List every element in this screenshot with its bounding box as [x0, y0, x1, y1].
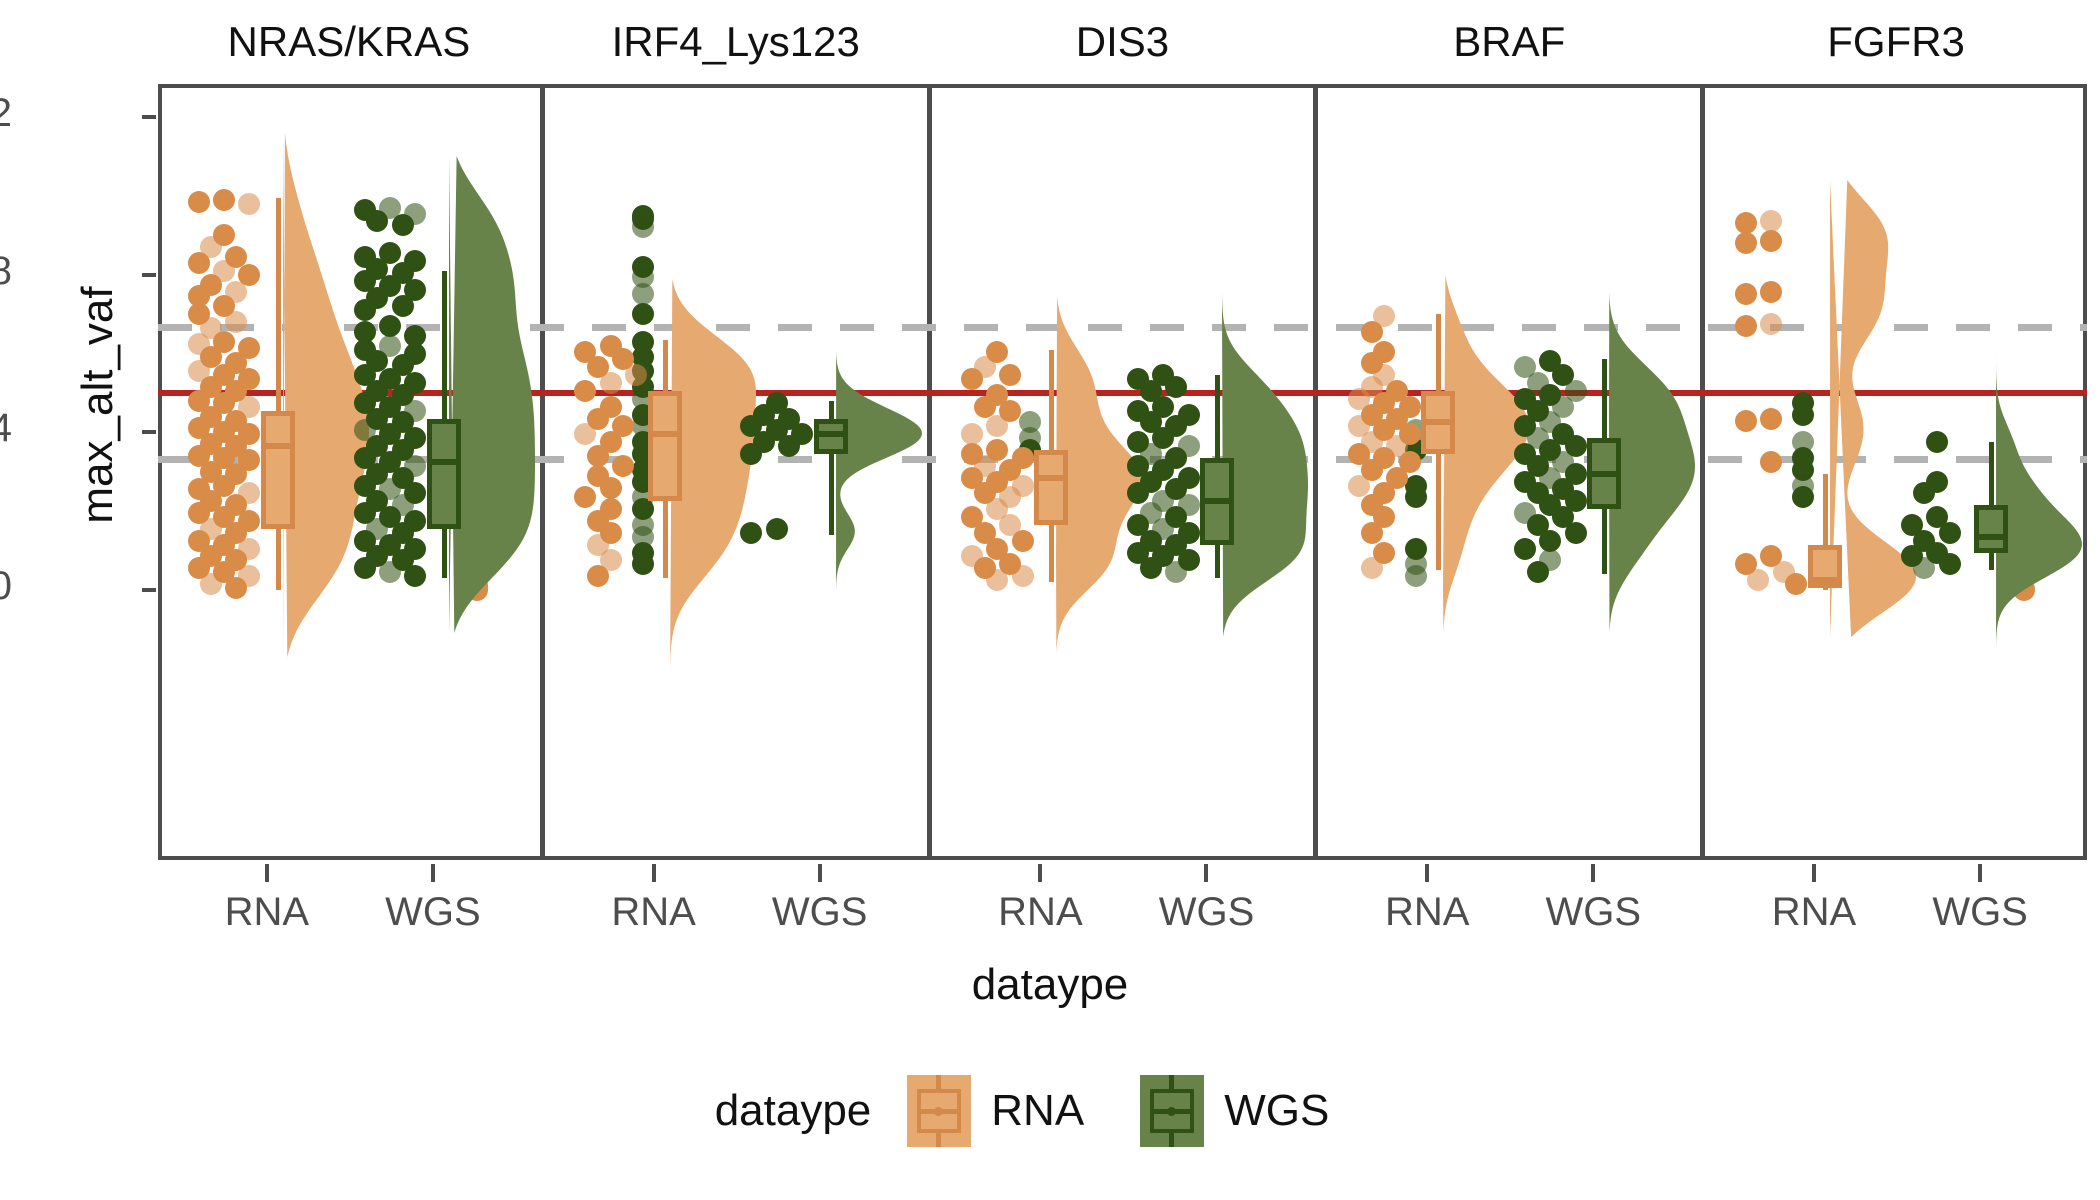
- y-tick-mark: [142, 115, 156, 119]
- whisker-RNA: [276, 198, 281, 590]
- median-WGS: [1587, 471, 1621, 477]
- violin-WGS: [836, 350, 924, 590]
- x-tick-mark: [1425, 864, 1429, 882]
- box-RNA: [648, 391, 682, 501]
- data-point: [392, 295, 414, 317]
- legend-title: dataype: [715, 1086, 872, 1136]
- y-tick-mark: [142, 588, 156, 592]
- data-point: [1514, 538, 1536, 560]
- panel-title-2: DIS3: [932, 18, 1314, 68]
- median-WGS: [1974, 534, 2008, 540]
- y-axis-title: max_alt_vaf: [73, 255, 123, 555]
- x-tick-mark: [652, 864, 656, 882]
- median-RNA: [1808, 577, 1842, 583]
- panel-title-1: IRF4_Lys123: [545, 18, 927, 68]
- data-point: [1760, 408, 1782, 430]
- data-point: [1361, 321, 1383, 343]
- data-point: [1939, 522, 1961, 544]
- data-point: [379, 315, 401, 337]
- y-tick-label: 0.0: [0, 564, 12, 609]
- median-RNA: [648, 431, 682, 437]
- data-point: [1165, 376, 1187, 398]
- box-WGS: [427, 419, 461, 529]
- x-tick-label-WGS: WGS: [1493, 890, 1693, 935]
- violin-WGS: [1222, 292, 1310, 637]
- legend: dataype RNAWGS: [0, 1075, 2100, 1147]
- x-tick-mark: [1038, 864, 1042, 882]
- data-point: [213, 189, 235, 211]
- panel-title-0: NRAS/KRAS: [158, 18, 540, 68]
- data-point: [587, 445, 609, 467]
- violin-RNA: [1830, 180, 1918, 637]
- violin-WGS: [449, 156, 537, 633]
- legend-label-RNA: RNA: [991, 1086, 1084, 1136]
- data-point: [766, 518, 788, 540]
- median-WGS: [1200, 498, 1234, 504]
- x-tick-mark: [265, 864, 269, 882]
- x-tick-label-WGS: WGS: [1106, 890, 1306, 935]
- data-point: [1760, 451, 1782, 473]
- data-point: [1735, 212, 1757, 234]
- x-tick-mark: [818, 864, 822, 882]
- panel-title-4: FGFR3: [1705, 18, 2087, 68]
- median-RNA: [1421, 419, 1455, 425]
- median-WGS: [427, 459, 461, 465]
- data-point: [1939, 553, 1961, 575]
- x-tick-label-WGS: WGS: [720, 890, 920, 935]
- panel-title-3: BRAF: [1318, 18, 1700, 68]
- x-tick-label-WGS: WGS: [1880, 890, 2080, 935]
- x-tick-mark: [1812, 864, 1816, 882]
- data-point: [1735, 232, 1757, 254]
- violin-WGS: [1996, 338, 2084, 649]
- x-tick-label-WGS: WGS: [333, 890, 533, 935]
- data-point: [1735, 410, 1757, 432]
- y-tick-mark: [142, 273, 156, 277]
- data-point: [1735, 315, 1757, 337]
- box-WGS: [1974, 505, 2008, 552]
- violin-RNA: [670, 279, 758, 689]
- data-point: [587, 565, 609, 587]
- data-point: [612, 455, 634, 477]
- data-point: [379, 561, 401, 583]
- data-point: [188, 252, 210, 274]
- data-point: [1760, 230, 1782, 252]
- box-RNA: [261, 411, 295, 529]
- x-tick-mark: [1591, 864, 1595, 882]
- data-point: [974, 396, 996, 418]
- data-point: [625, 364, 647, 386]
- data-point: [600, 477, 622, 499]
- data-point: [238, 193, 260, 215]
- data-point: [1565, 522, 1587, 544]
- raincloud-chart: max_alt_vaf dataype 1.20.80.40.0 NRAS/KR…: [0, 0, 2100, 1200]
- x-tick-mark: [1204, 864, 1208, 882]
- data-point: [1735, 283, 1757, 305]
- y-tick-label: 1.2: [0, 91, 12, 136]
- data-point: [1348, 475, 1370, 497]
- box-RNA: [1034, 450, 1068, 525]
- x-tick-mark: [1978, 864, 1982, 882]
- data-point: [1140, 557, 1162, 579]
- data-point: [632, 303, 654, 325]
- data-point: [1361, 557, 1383, 579]
- data-point: [1012, 565, 1034, 587]
- x-tick-mark: [431, 864, 435, 882]
- data-point: [1760, 313, 1782, 335]
- data-point: [354, 299, 376, 321]
- median-RNA: [261, 443, 295, 449]
- median-WGS: [814, 431, 848, 437]
- data-point: [1792, 404, 1814, 426]
- data-point: [188, 191, 210, 213]
- legend-key-RNA[interactable]: [907, 1075, 971, 1147]
- data-point: [600, 372, 622, 394]
- violin-WGS: [1609, 292, 1697, 633]
- data-point: [392, 214, 414, 236]
- legend-key-WGS[interactable]: [1140, 1075, 1204, 1147]
- median-RNA: [1034, 475, 1068, 481]
- x-axis-title: dataype: [0, 960, 2100, 1010]
- data-point: [1361, 522, 1383, 544]
- data-point: [1539, 530, 1561, 552]
- data-point: [354, 557, 376, 579]
- data-point: [1527, 561, 1549, 583]
- y-tick-label: 0.4: [0, 406, 12, 451]
- y-tick-label: 0.8: [0, 249, 12, 294]
- y-tick-mark: [142, 430, 156, 434]
- data-point: [1012, 530, 1034, 552]
- legend-label-WGS: WGS: [1224, 1086, 1329, 1136]
